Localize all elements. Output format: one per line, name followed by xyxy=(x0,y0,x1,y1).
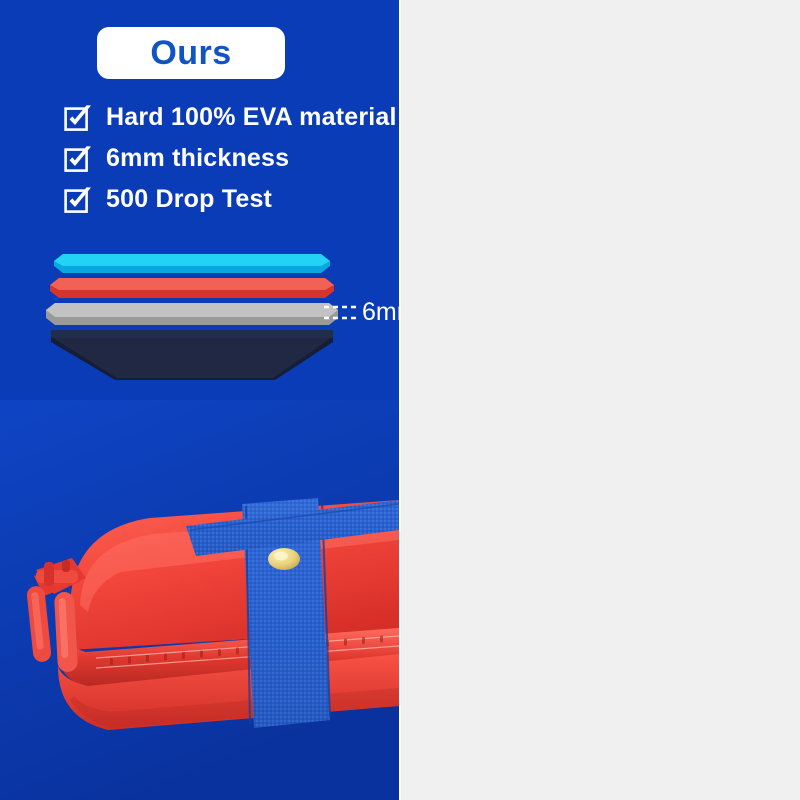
panel-ours: Ours Hard 100% EVA material xyxy=(0,0,399,800)
feature-label: 6mm thickness xyxy=(106,145,289,173)
product-photo-ours xyxy=(0,400,399,800)
feature-item: 6mm thickness xyxy=(64,145,394,173)
feature-list-ours: Hard 100% EVA material 6mm thickness xyxy=(64,104,394,227)
feature-item: Hard 100% EVA material xyxy=(64,104,394,132)
leader-line-icon xyxy=(324,302,360,324)
feature-item: 500 Drop Test xyxy=(64,186,394,214)
checkbox-check-icon xyxy=(64,145,92,173)
feature-label: Hard 100% EVA material xyxy=(106,104,397,132)
badge-ours: Ours xyxy=(97,27,285,79)
dimension-label: 6mm xyxy=(362,300,399,325)
checkbox-check-icon xyxy=(64,104,92,132)
feature-label: 500 Drop Test xyxy=(106,186,272,214)
comparison-infographic: Ours Hard 100% EVA material xyxy=(0,0,800,800)
dimension-6mm: 6mm xyxy=(324,300,399,325)
checkbox-check-icon xyxy=(64,186,92,214)
panel-others: Others 5mm 75% EVA xyxy=(401,0,800,800)
layer-stack-ours xyxy=(45,248,365,388)
panel-divider xyxy=(399,0,401,800)
